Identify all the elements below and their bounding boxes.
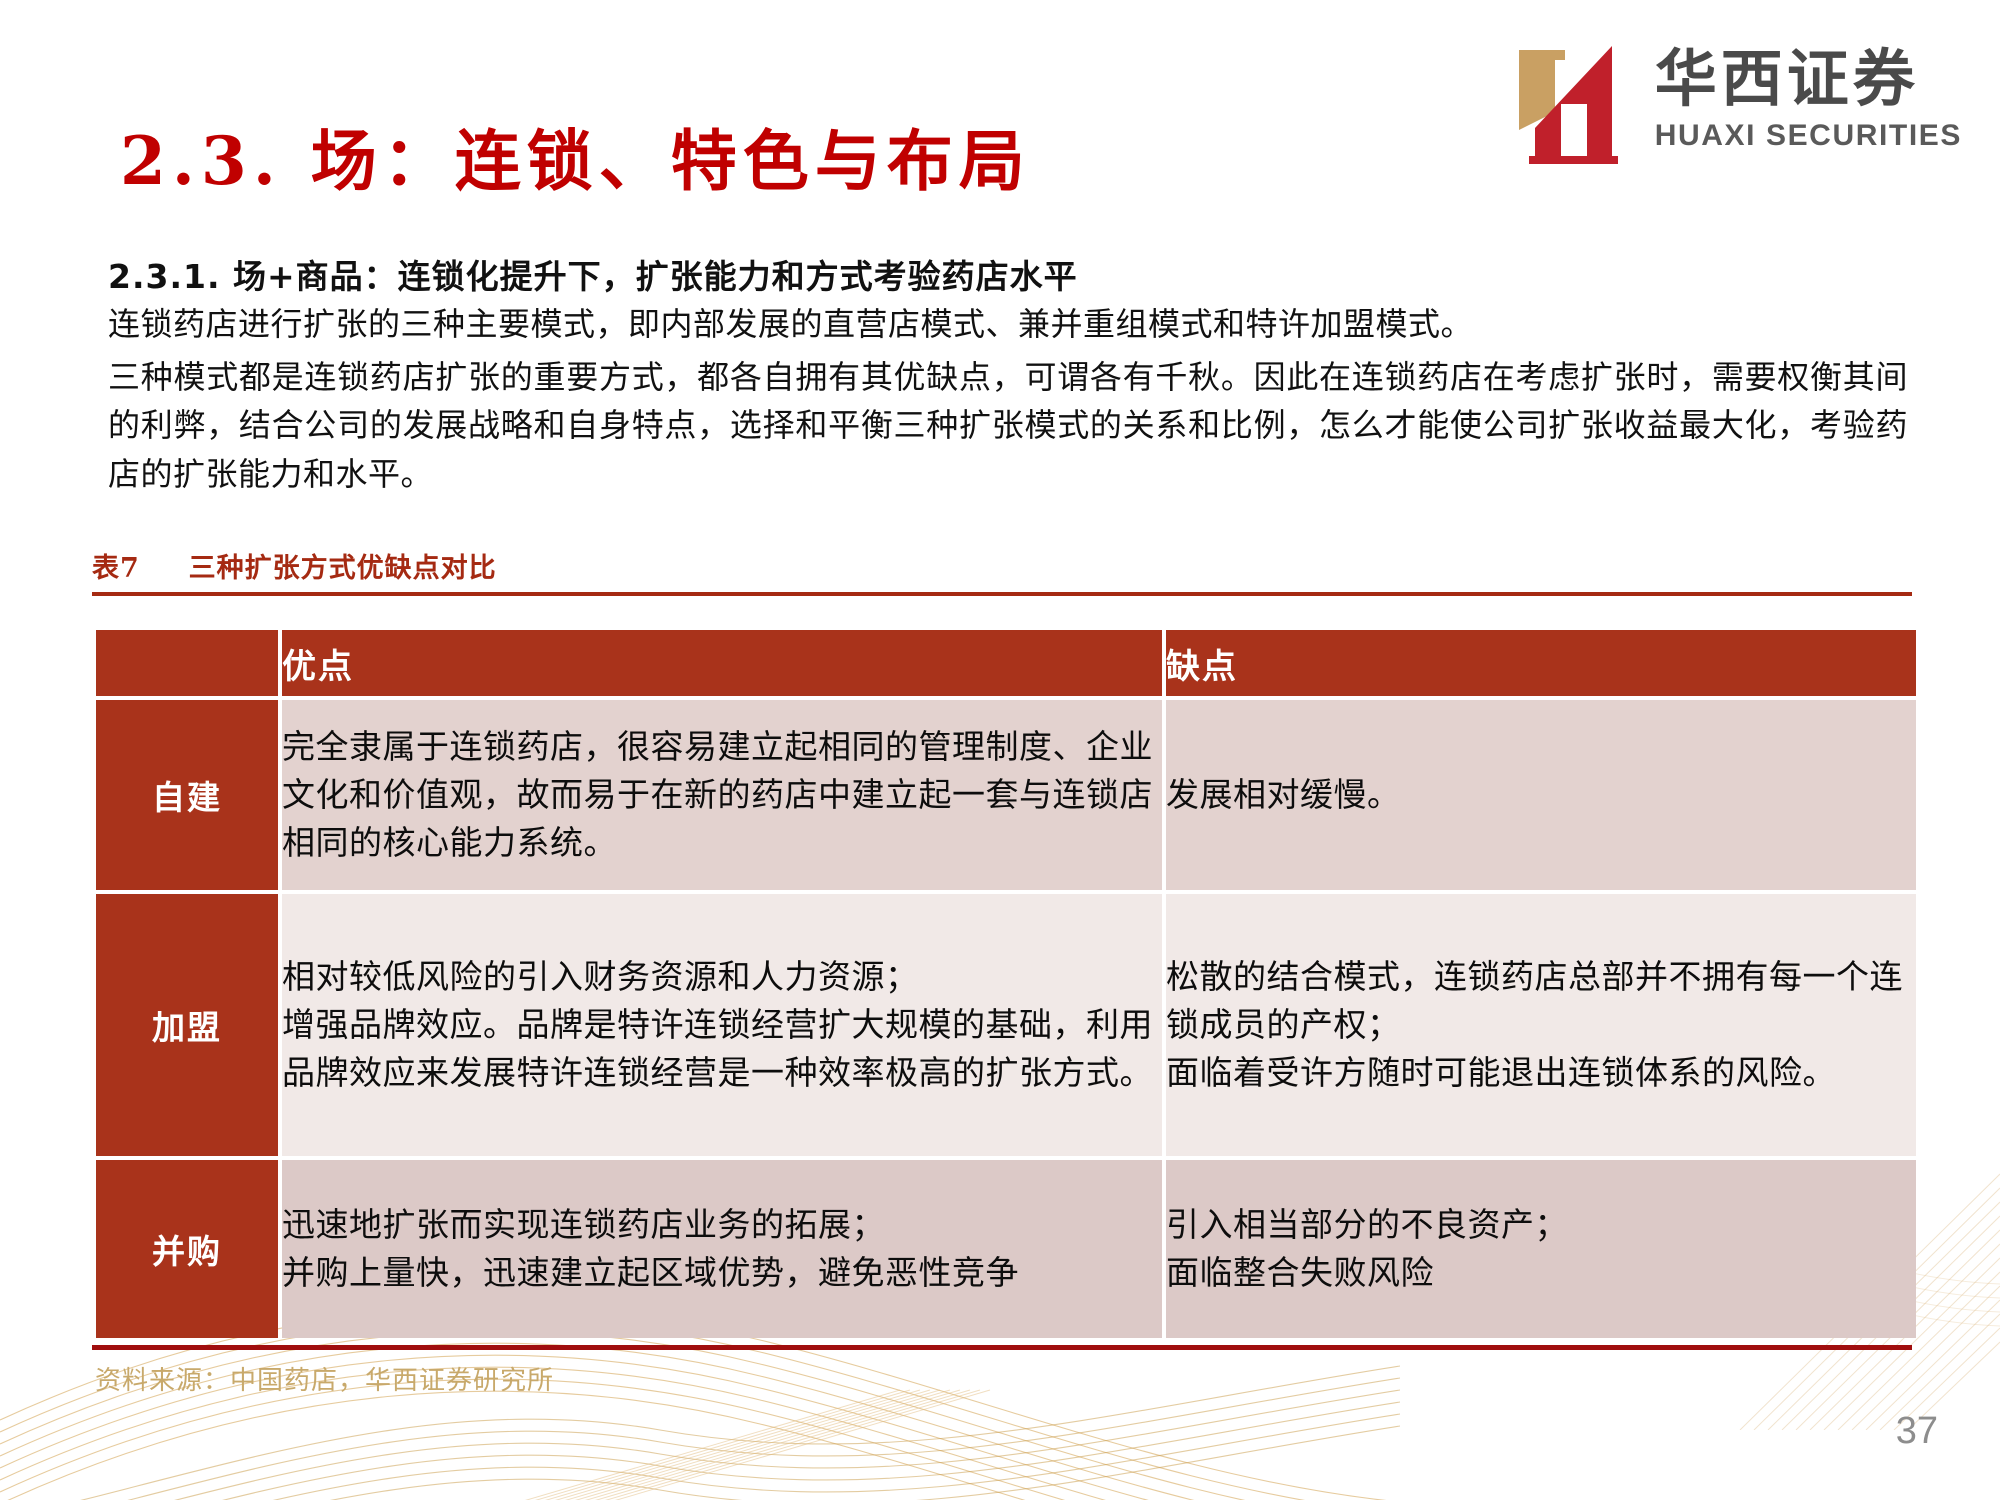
table-header-pros: 优点: [282, 630, 1162, 696]
row-label-self-build: 自建: [96, 700, 278, 890]
body-text: 连锁药店进行扩张的三种主要模式，即内部发展的直营店模式、兼并重组模式和特许加盟模…: [108, 300, 1908, 503]
table-caption-rule: [92, 592, 1912, 596]
table-row: 加盟 相对较低风险的引入财务资源和人力资源； 增强品牌效应。品牌是特许连锁经营扩…: [96, 894, 1916, 1156]
row-cons-merger: 引入相当部分的不良资产； 面临整合失败风险: [1166, 1160, 1916, 1338]
table-header-cons: 缺点: [1166, 630, 1916, 696]
page-title: 2.3. 场：连锁、特色与布局: [120, 108, 1031, 204]
table-caption-text: 表7 三种扩张方式优缺点对比: [92, 546, 1912, 585]
logo-chinese-name: 华西证券: [1655, 46, 1962, 113]
table-row: 自建 完全隶属于连锁药店，很容易建立起相同的管理制度、企业文化和价值观，故而易于…: [96, 700, 1916, 890]
row-cons-self-build: 发展相对缓慢。: [1166, 700, 1916, 890]
table-header-corner: [96, 630, 278, 696]
source-note: 资料来源：中国药店，华西证券研究所: [95, 1360, 554, 1397]
table-header-row: 优点 缺点: [96, 630, 1916, 696]
row-pros-merger: 迅速地扩张而实现连锁药店业务的拓展； 并购上量快，迅速建立起区域优势，避免恶性竞…: [282, 1160, 1162, 1338]
row-pros-franchise: 相对较低风险的引入财务资源和人力资源； 增强品牌效应。品牌是特许连锁经营扩大规模…: [282, 894, 1162, 1156]
company-logo: 华西证券 HUAXI SECURITIES: [1515, 42, 1962, 164]
table-caption-title: 三种扩张方式优缺点对比: [189, 553, 497, 584]
body-paragraph-1: 连锁药店进行扩张的三种主要模式，即内部发展的直营店模式、兼并重组模式和特许加盟模…: [108, 300, 1908, 349]
row-label-merger: 并购: [96, 1160, 278, 1338]
row-pros-self-build: 完全隶属于连锁药店，很容易建立起相同的管理制度、企业文化和价值观，故而易于在新的…: [282, 700, 1162, 890]
huaxi-h-mark-icon: [1515, 42, 1633, 164]
row-cons-franchise: 松散的结合模式，连锁药店总部并不拥有每一个连锁成员的产权； 面临着受许方随时可能…: [1166, 894, 1916, 1156]
table-caption-label: 表7: [92, 553, 140, 584]
section-subtitle: 2.3.1. 场+商品：连锁化提升下，扩张能力和方式考验药店水平: [108, 250, 1078, 298]
logo-wordmark: 华西证券 HUAXI SECURITIES: [1655, 42, 1962, 153]
row-label-franchise: 加盟: [96, 894, 278, 1156]
footer-divider: [92, 1345, 1912, 1350]
table-row: 并购 迅速地扩张而实现连锁药店业务的拓展； 并购上量快，迅速建立起区域优势，避免…: [96, 1160, 1916, 1338]
expansion-comparison-table: 优点 缺点 自建 完全隶属于连锁药店，很容易建立起相同的管理制度、企业文化和价值…: [92, 626, 1920, 1342]
table-caption: 表7 三种扩张方式优缺点对比: [92, 546, 1912, 596]
logo-english-name: HUAXI SECURITIES: [1655, 119, 1962, 153]
page-number: 37: [1896, 1410, 1938, 1453]
body-paragraph-2: 三种模式都是连锁药店扩张的重要方式，都各自拥有其优缺点，可谓各有千秋。因此在连锁…: [108, 353, 1908, 499]
slide-canvas: 华西证券 HUAXI SECURITIES 2.3. 场：连锁、特色与布局 2.…: [0, 0, 2000, 1500]
